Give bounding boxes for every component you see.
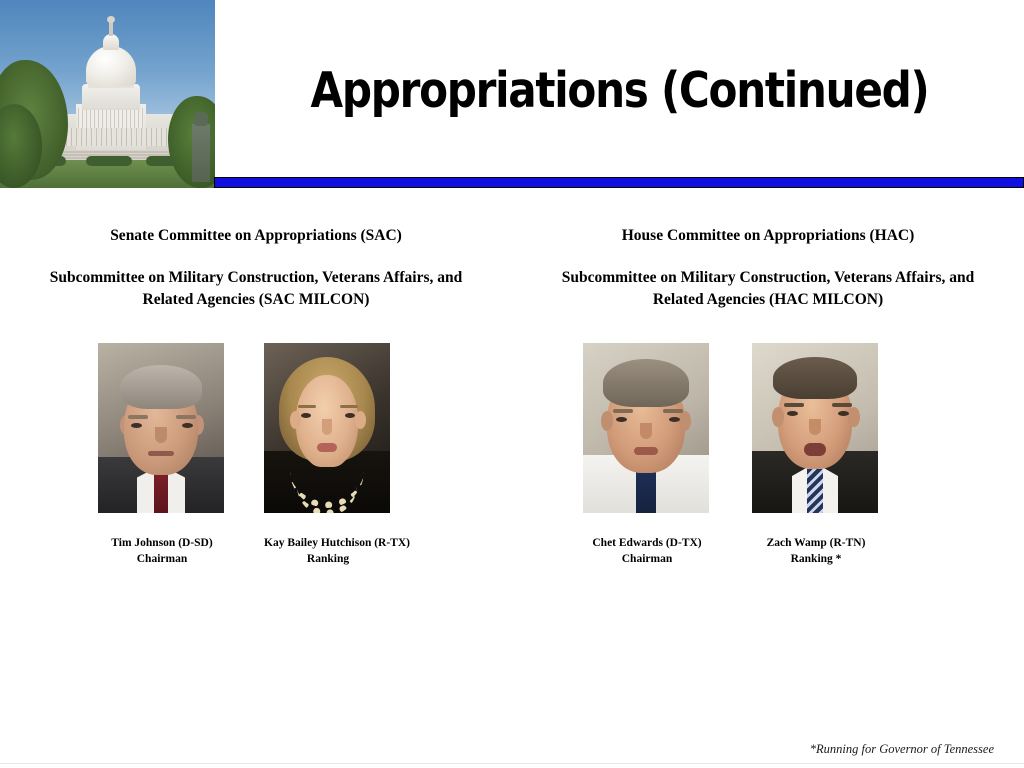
member-card-zach-wamp: Zach Wamp (R-TN) Ranking *	[752, 343, 880, 567]
bottom-divider	[0, 763, 1024, 764]
member-name: Zach Wamp (R-TN)	[767, 537, 866, 549]
member-name: Kay Bailey Hutchison (R-TX)	[264, 537, 410, 549]
portrait-eye	[787, 411, 798, 416]
member-role: Ranking	[264, 551, 392, 567]
member-caption: Chet Edwards (D-TX) Chairman	[583, 535, 711, 567]
member-role: Chairman	[98, 551, 226, 567]
portrait-necktie	[154, 473, 168, 513]
portrait-mouth	[148, 451, 174, 456]
portrait-chet-edwards	[583, 343, 709, 513]
member-name: Tim Johnson (D-SD)	[111, 537, 212, 549]
portrait-mouth	[804, 443, 826, 456]
portrait-ear	[679, 411, 691, 431]
portrait-ear	[355, 411, 366, 429]
member-card-kay-bailey-hutchison: Kay Bailey Hutchison (R-TX) Ranking	[264, 343, 392, 567]
page-title: Appropriations (Continued)	[272, 62, 968, 120]
member-caption: Tim Johnson (D-SD) Chairman	[98, 535, 226, 567]
portrait-mouth	[317, 443, 337, 452]
portrait-eye	[131, 423, 142, 428]
senate-members-row: Tim Johnson (D-SD) Chairman Kay Bailey H…	[0, 343, 512, 568]
portrait-eyebrow	[128, 415, 148, 419]
house-subcommittee-title: Subcommittee on Military Construction, V…	[512, 267, 1024, 311]
portrait-eye	[669, 417, 680, 422]
portrait-ear	[772, 407, 784, 427]
portrait-ear	[848, 407, 860, 427]
us-capitol-photo	[0, 0, 215, 188]
house-column: House Committee on Appropriations (HAC) …	[512, 226, 1024, 311]
portrait-eyebrow	[832, 403, 852, 407]
portrait-nose	[155, 427, 167, 443]
portrait-eye	[616, 417, 627, 422]
portrait-eyebrow	[176, 415, 196, 419]
member-caption: Zach Wamp (R-TN) Ranking *	[752, 535, 880, 567]
footnote: *Running for Governor of Tennessee	[810, 742, 994, 757]
portrait-hair	[120, 365, 202, 409]
portrait-nose	[640, 423, 652, 439]
capitol-shrub	[86, 156, 132, 166]
portrait-nose	[809, 419, 821, 435]
portrait-tim-johnson	[98, 343, 224, 513]
capitol-dome-lantern	[103, 34, 119, 50]
house-members-row: Chet Edwards (D-TX) Chairman Zach Wamp (…	[512, 343, 1024, 568]
portrait-eyebrow	[298, 405, 316, 408]
house-committee-title: House Committee on Appropriations (HAC)	[512, 226, 1024, 245]
capitol-statue-of-freedom	[109, 20, 113, 36]
member-role: Chairman	[583, 551, 711, 567]
portrait-eyebrow	[663, 409, 683, 413]
portrait-mouth	[634, 447, 658, 455]
portrait-necktie	[807, 469, 823, 513]
member-card-tim-johnson: Tim Johnson (D-SD) Chairman	[98, 343, 226, 567]
portrait-eye	[838, 411, 849, 416]
senate-column: Senate Committee on Appropriations (SAC)…	[0, 226, 512, 311]
portrait-eye	[345, 413, 355, 418]
portrait-eye	[182, 423, 193, 428]
capitol-monument	[192, 124, 210, 182]
member-caption: Kay Bailey Hutchison (R-TX) Ranking	[264, 535, 392, 567]
portrait-nose	[322, 419, 332, 435]
portrait-ear	[601, 411, 613, 431]
portrait-hair	[773, 357, 857, 399]
portrait-eye	[301, 413, 311, 418]
portrait-eyebrow	[613, 409, 633, 413]
senate-committee-title: Senate Committee on Appropriations (SAC)	[0, 226, 512, 245]
member-name: Chet Edwards (D-TX)	[592, 537, 701, 549]
senate-subcommittee-title: Subcommittee on Military Construction, V…	[0, 267, 512, 311]
portrait-ear	[290, 411, 301, 429]
portrait-zach-wamp	[752, 343, 878, 513]
title-area: Appropriations (Continued)	[215, 0, 1024, 178]
header-accent-rule	[214, 177, 1024, 188]
portrait-kay-bailey-hutchison	[264, 343, 390, 513]
member-role: Ranking *	[752, 551, 880, 567]
portrait-eyebrow	[340, 405, 358, 408]
portrait-necktie	[636, 467, 656, 513]
portrait-eyebrow	[784, 403, 804, 407]
slide-header: Appropriations (Continued)	[0, 0, 1024, 190]
member-card-chet-edwards: Chet Edwards (D-TX) Chairman	[583, 343, 711, 567]
portrait-hair	[603, 359, 689, 407]
